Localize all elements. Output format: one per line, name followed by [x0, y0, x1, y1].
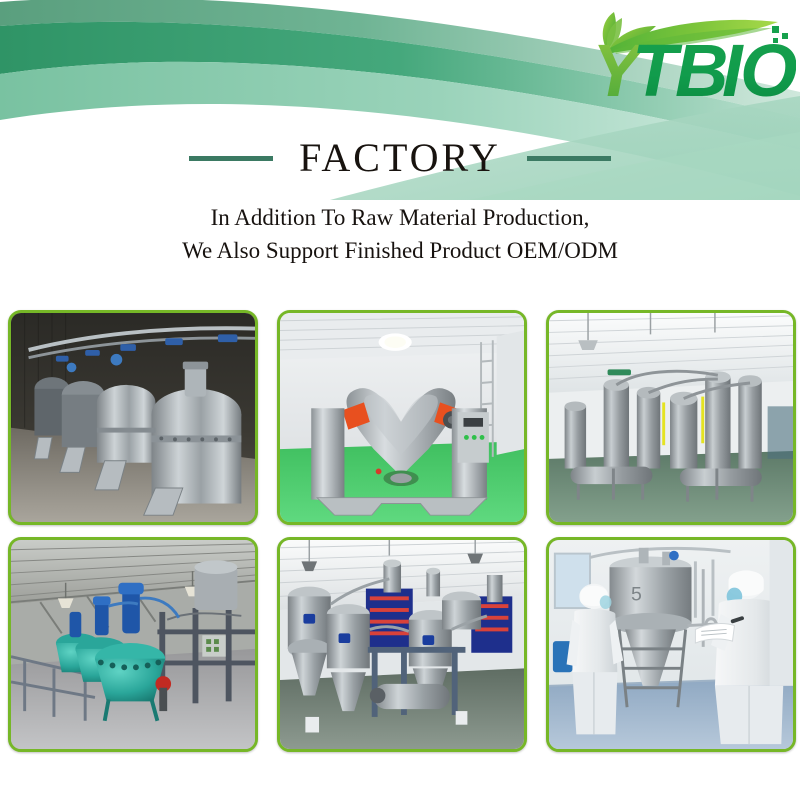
subtitle-line-1: In Addition To Raw Material Production,	[0, 202, 800, 235]
photo-teal-reactors[interactable]: Teal enamel reactor vessels with blue ag…	[8, 537, 258, 752]
title-block: FACTORY In Addition To Raw Material Prod…	[0, 132, 800, 267]
photo-reactor-tanks[interactable]: Row of large stainless steel reactor tan…	[8, 310, 258, 525]
svg-text:B: B	[675, 29, 728, 100]
factory-page: Y T B I O FACTORY In Addition To Raw Mat…	[0, 0, 800, 800]
title-row: FACTORY	[0, 132, 800, 184]
ytbio-wordmark: Y T B I O	[592, 29, 796, 100]
page-title: FACTORY	[299, 138, 501, 178]
svg-text:O: O	[740, 29, 796, 100]
title-rule-right	[527, 156, 611, 161]
photo-v-mixer[interactable]: V-type stainless steel mixer on green ep…	[277, 310, 527, 525]
photo-extraction-columns[interactable]: Stainless steel extraction and concentra…	[546, 310, 796, 525]
factory-photo-grid: Row of large stainless steel reactor tan…	[8, 310, 795, 752]
page-subtitle: In Addition To Raw Material Production, …	[0, 202, 800, 267]
subtitle-line-2: We Also Support Finished Product OEM/ODM	[0, 235, 800, 268]
svg-text:5: 5	[631, 583, 642, 605]
ytbio-logo[interactable]: Y T B I O	[586, 8, 796, 100]
photo-workers-cleanroom[interactable]: 5	[546, 537, 796, 752]
title-rule-left	[189, 156, 273, 161]
photo-evaporators[interactable]: Evaporator vessels with blue plate heat …	[277, 537, 527, 752]
